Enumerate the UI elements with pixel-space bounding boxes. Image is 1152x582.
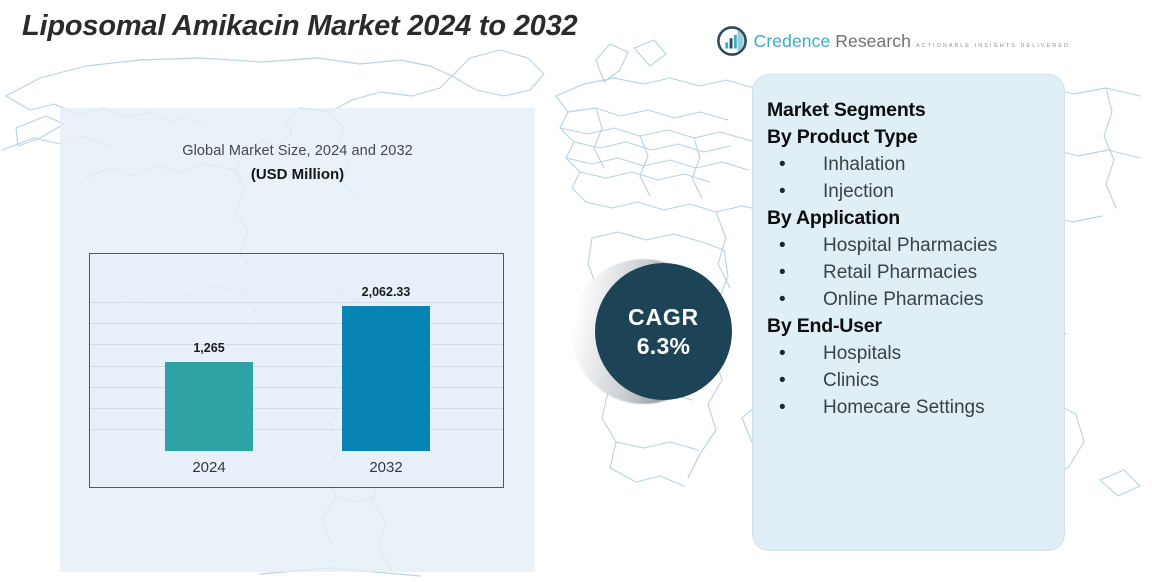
chart-caption: Global Market Size, 2024 and 2032 (USD M… <box>60 143 535 183</box>
chart-x-axis-label: 2032 <box>369 459 402 476</box>
segments-list-item-label: Hospitals <box>823 343 901 364</box>
chart-gridline <box>90 366 503 367</box>
cagr-label: CAGR <box>628 304 699 331</box>
segments-groups: By Product Type•Inhalation•InjectionBy A… <box>767 124 1050 421</box>
bullet-icon: • <box>779 286 786 313</box>
segments-list-item[interactable]: •Hospital Pharmacies <box>767 232 1050 259</box>
segments-list-item-label: Clinics <box>823 370 879 391</box>
segments-list-item-label: Online Pharmacies <box>823 289 984 310</box>
segments-group-heading: By Application <box>767 205 1050 232</box>
segments-list-item[interactable]: •Online Pharmacies <box>767 286 1050 313</box>
bullet-icon: • <box>779 151 786 178</box>
cagr-badge: CAGR 6.3% <box>571 259 743 404</box>
chart-gridline <box>90 302 503 303</box>
segments-list-item-label: Inhalation <box>823 154 905 175</box>
page-title: Liposomal Amikacin Market 2024 to 2032 <box>22 10 577 43</box>
segments-title: Market Segments <box>767 97 1050 124</box>
segments-list-item[interactable]: •Clinics <box>767 367 1050 394</box>
chart-gridline <box>90 387 503 388</box>
logo-tagline: Actionable Insights Delivered <box>916 43 1070 49</box>
bullet-icon: • <box>779 340 786 367</box>
segments-list-item-label: Hospital Pharmacies <box>823 235 997 256</box>
bullet-icon: • <box>779 232 786 259</box>
chart-bar: 1,2652024 <box>165 362 253 451</box>
chart-caption-line2: (USD Million) <box>60 166 535 183</box>
brand-logo[interactable]: Credence Research Actionable Insights De… <box>717 26 1070 56</box>
bar-chart-plot-area: 1,26520242,062.332032 <box>89 253 504 488</box>
chart-bar-value-label: 2,062.33 <box>362 285 411 299</box>
logo-word-research: Research <box>835 31 911 51</box>
segments-group-list: •Hospital Pharmacies•Retail Pharmacies•O… <box>767 232 1050 313</box>
bullet-icon: • <box>779 367 786 394</box>
segments-group-heading: By Product Type <box>767 124 1050 151</box>
market-segments-panel: Market Segments By Product Type•Inhalati… <box>752 74 1065 551</box>
segments-list-item-label: Injection <box>823 181 894 202</box>
segments-group-list: •Hospitals•Clinics•Homecare Settings <box>767 340 1050 421</box>
logo-wordmark-group: Credence Research Actionable Insights De… <box>754 32 1070 51</box>
chart-caption-line1: Global Market Size, 2024 and 2032 <box>60 143 535 159</box>
segments-list-item[interactable]: •Injection <box>767 178 1050 205</box>
chart-gridline <box>90 323 503 324</box>
bullet-icon: • <box>779 178 786 205</box>
segments-group-heading: By End-User <box>767 313 1050 340</box>
bar-chart-circle-icon <box>717 26 747 56</box>
chart-gridline <box>90 408 503 409</box>
cagr-value: 6.3% <box>637 333 691 360</box>
cagr-circle: CAGR 6.3% <box>595 263 732 400</box>
segments-list-item-label: Retail Pharmacies <box>823 262 977 283</box>
segments-group-list: •Inhalation•Injection <box>767 151 1050 205</box>
segments-list-item[interactable]: •Retail Pharmacies <box>767 259 1050 286</box>
logo-word-credence: Credence <box>754 31 831 51</box>
market-size-chart-panel: Global Market Size, 2024 and 2032 (USD M… <box>60 108 535 572</box>
chart-x-axis-label: 2024 <box>192 459 225 476</box>
chart-bar-value-label: 1,265 <box>193 341 224 355</box>
chart-gridline <box>90 344 503 345</box>
chart-bar-fill <box>165 362 253 451</box>
segments-list-item[interactable]: •Hospitals <box>767 340 1050 367</box>
bullet-icon: • <box>779 259 786 286</box>
segments-list-item[interactable]: •Homecare Settings <box>767 394 1050 421</box>
bullet-icon: • <box>779 394 786 421</box>
segments-list-item[interactable]: •Inhalation <box>767 151 1050 178</box>
chart-bar: 2,062.332032 <box>342 306 430 451</box>
chart-bar-fill <box>342 306 430 451</box>
segments-list-item-label: Homecare Settings <box>823 397 985 418</box>
chart-gridline <box>90 429 503 430</box>
